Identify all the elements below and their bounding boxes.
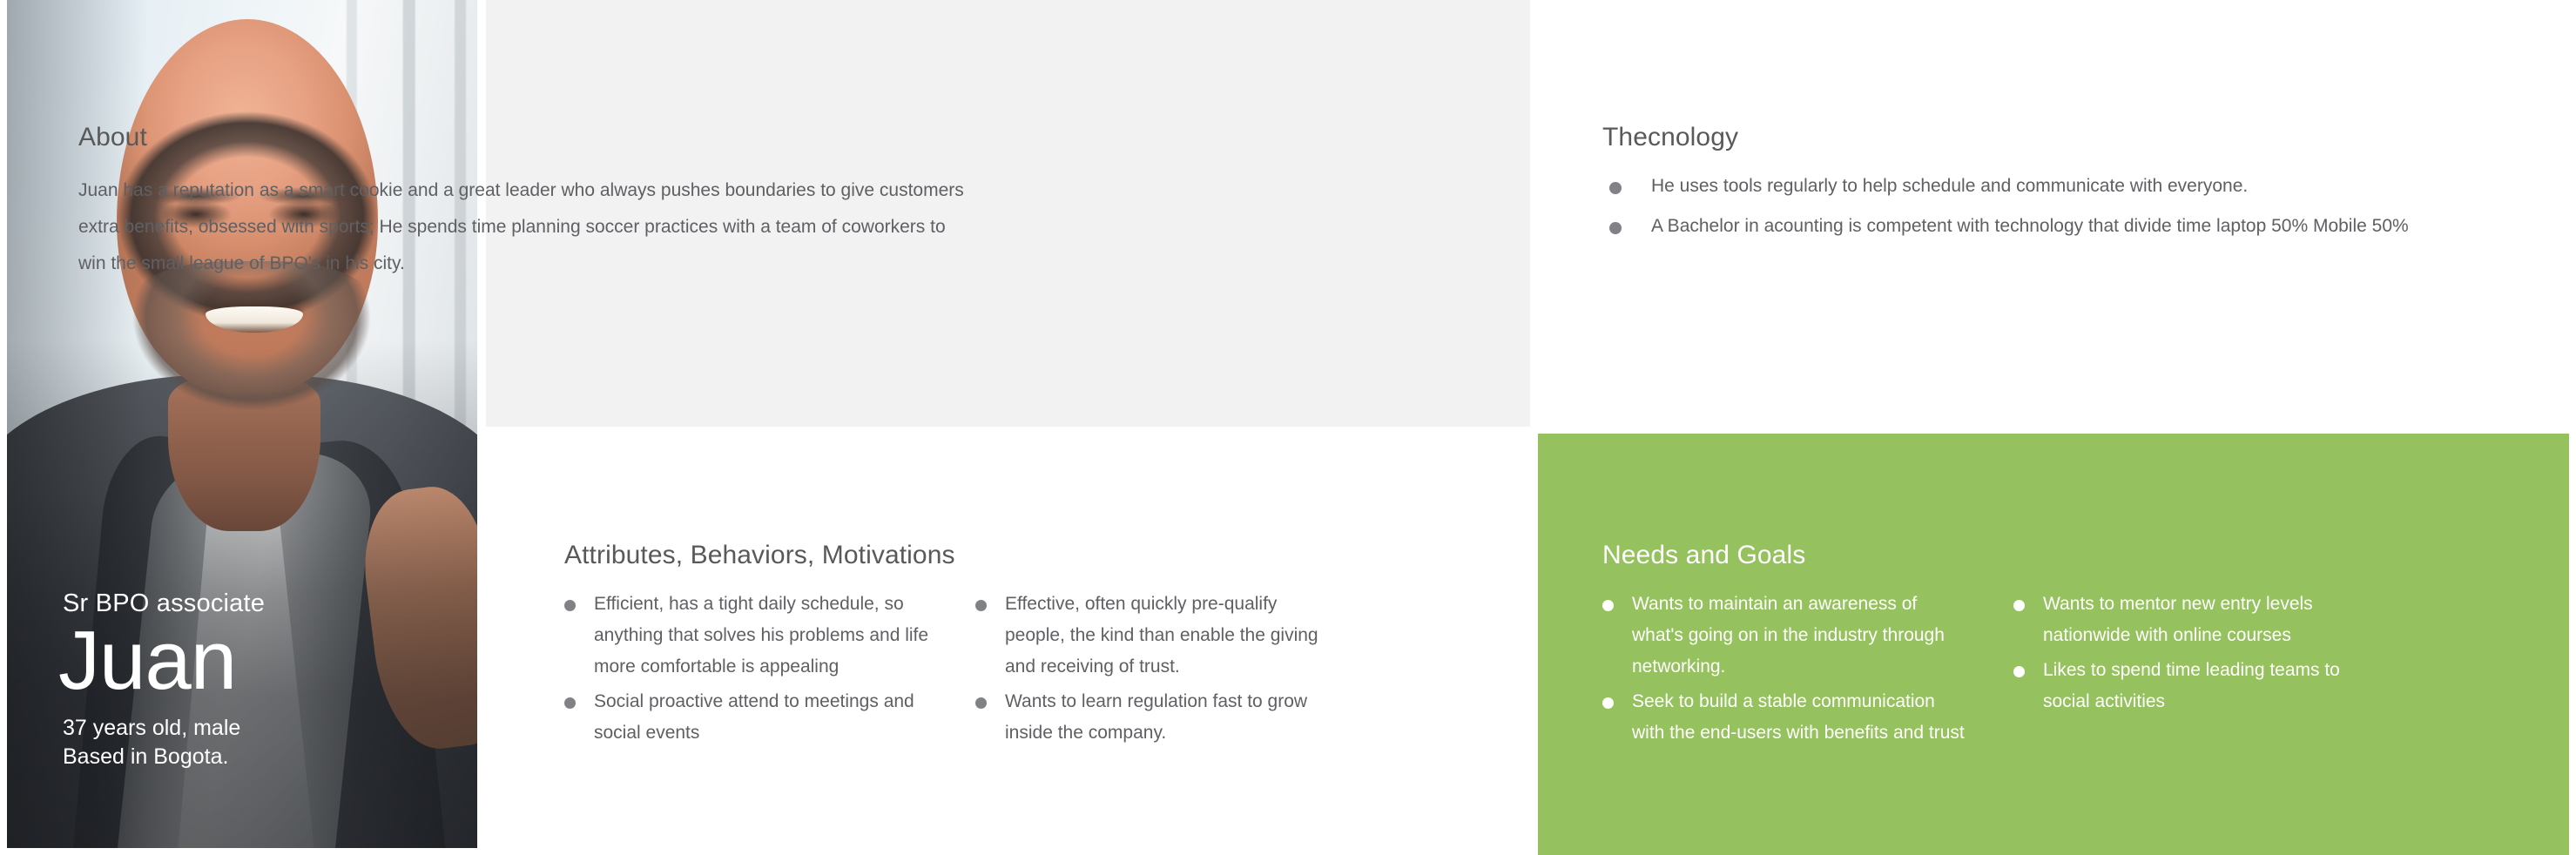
technology-section: Thecnology He uses tools regularly to he…: [1602, 122, 2525, 251]
list-item-label: Wants to maintain an awareness of what's…: [1632, 594, 1945, 677]
about-body-text: Juan has a reputation as a smart cookie …: [78, 172, 967, 282]
about-title: About: [78, 122, 1001, 153]
persona-identity-block: Sr BPO associate Juan 37 years old, male…: [63, 590, 265, 771]
needs-list-right: Wants to mentor new entry levels nationw…: [2013, 589, 2379, 753]
list-item: Social proactive attend to meetings and …: [564, 686, 930, 749]
list-item: Wants to mentor new entry levels nationw…: [2013, 589, 2379, 651]
bullet-dot-icon: [1602, 600, 1614, 611]
attributes-section: Attributes, Behaviors, Motivations Effic…: [564, 540, 1487, 753]
list-item: He uses tools regularly to help schedule…: [1602, 171, 2525, 202]
persona-board: Sr BPO associate Juan 37 years old, male…: [0, 0, 2576, 855]
list-item-label: Likes to spend time leading teams to soc…: [2043, 660, 2340, 711]
list-item-label: Wants to mentor new entry levels nationw…: [2043, 594, 2313, 645]
attributes-list-right: Effective, often quickly pre-qualify peo…: [975, 589, 1341, 753]
list-item: Effective, often quickly pre-qualify peo…: [975, 589, 1341, 683]
list-item: Wants to learn regulation fast to grow i…: [975, 686, 1341, 749]
bullet-dot-icon: [2013, 600, 2025, 611]
attributes-list-left: Efficient, has a tight daily schedule, s…: [564, 589, 930, 753]
needs-title: Needs and Goals: [1602, 540, 2525, 571]
technology-list: He uses tools regularly to help schedule…: [1602, 171, 2525, 242]
list-item-label: Social proactive attend to meetings and …: [594, 691, 914, 743]
bullet-dot-icon: [1609, 222, 1622, 234]
about-section: About Juan has a reputation as a smart c…: [78, 122, 1001, 282]
needs-and-goals-section: Needs and Goals Wants to maintain an awa…: [1602, 540, 2525, 753]
persona-age-gender: 37 years old, male: [63, 714, 265, 743]
technology-title: Thecnology: [1602, 122, 2525, 153]
list-item-label: Efficient, has a tight daily schedule, s…: [594, 594, 928, 677]
needs-columns: Wants to maintain an awareness of what's…: [1602, 589, 2525, 753]
bullet-dot-icon: [2013, 666, 2025, 677]
attributes-columns: Efficient, has a tight daily schedule, s…: [564, 589, 1487, 753]
list-item: Efficient, has a tight daily schedule, s…: [564, 589, 930, 683]
persona-name: Juan: [58, 620, 265, 702]
list-item-label: Wants to learn regulation fast to grow i…: [1005, 691, 1307, 743]
list-item-label: Seek to build a stable communication wit…: [1632, 691, 1965, 743]
bullet-dot-icon: [1602, 697, 1614, 709]
list-item: Wants to maintain an awareness of what's…: [1602, 589, 1968, 683]
needs-list-left: Wants to maintain an awareness of what's…: [1602, 589, 1968, 753]
list-item: Likes to spend time leading teams to soc…: [2013, 655, 2379, 717]
bullet-dot-icon: [1609, 182, 1622, 194]
persona-location: Based in Bogota.: [63, 743, 265, 771]
attributes-title: Attributes, Behaviors, Motivations: [564, 540, 1487, 571]
list-item: A Bachelor in acounting is competent wit…: [1602, 211, 2525, 242]
bullet-dot-icon: [975, 600, 987, 611]
list-item-label: He uses tools regularly to help schedule…: [1651, 176, 2248, 196]
list-item: Seek to build a stable communication wit…: [1602, 686, 1968, 749]
bullet-dot-icon: [564, 600, 576, 611]
list-item-label: A Bachelor in acounting is competent wit…: [1651, 216, 2409, 236]
list-item-label: Effective, often quickly pre-qualify peo…: [1005, 594, 1318, 677]
bullet-dot-icon: [975, 697, 987, 709]
bullet-dot-icon: [564, 697, 576, 709]
